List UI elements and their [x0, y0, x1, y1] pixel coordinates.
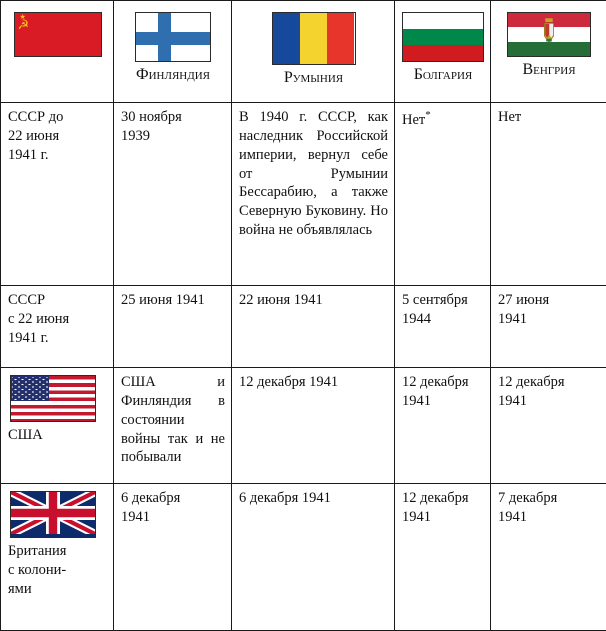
romania-header-content: Румыния	[239, 6, 388, 98]
bulgaria-flag	[402, 12, 484, 62]
header-label-hungary: Венгрия	[522, 60, 575, 81]
cell-ussr-after-bulgaria: 5 сентября 1944	[395, 286, 491, 368]
britain-header-content: Британия с колони- ями	[8, 489, 107, 599]
row-header-ussr-before: СССР до 22 июня 1941 г.	[1, 103, 114, 286]
cell-usa-finland: США и Финляндия в состоянии войны так и …	[114, 368, 232, 484]
cell-value: 12 декабря 1941	[239, 373, 388, 392]
header-cell-finland: Финляндия	[114, 1, 232, 103]
cell-value: 25 июня 1941	[121, 291, 225, 310]
cell-ussr-before-finland: 30 ноября 1939	[114, 103, 232, 286]
cell-ussr-after-finland: 25 июня 1941	[114, 286, 232, 368]
cell-value: 30 ноября 1939	[121, 108, 225, 146]
cell-ussr-after-hungary: 27 июня 1941	[491, 286, 606, 368]
table-header-row: ★ ☭ Финляндия Румыния	[1, 1, 606, 103]
hungary-flag	[507, 12, 591, 57]
finland-header-content: Финляндия	[121, 6, 225, 98]
cell-usa-hungary: 12 декабря 1941	[491, 368, 606, 484]
hungary-coat-of-arms-icon	[543, 16, 556, 54]
header-cell-bulgaria: Болгария	[395, 1, 491, 103]
cell-ussr-before-hungary: Нет	[491, 103, 606, 286]
bulgaria-header-content: Болгария	[402, 6, 484, 98]
ussr-hammer-sickle-icon: ☭	[18, 18, 30, 31]
cell-ussr-before-romania: В 1940 г. СССР, как наследник Российской…	[232, 103, 395, 286]
row-header-label: США	[8, 426, 43, 445]
cell-value: 5 сентября 1944	[402, 291, 484, 329]
header-label-finland: Финляндия	[136, 65, 210, 86]
cell-ussr-after-romania: 22 июня 1941	[232, 286, 395, 368]
row-header-usa: США	[1, 368, 114, 484]
table-row: СССР до 22 июня 1941 г. 30 ноября 1939 В…	[1, 103, 606, 286]
row-header-label: СССР до 22 июня 1941 г.	[8, 108, 107, 165]
cell-value: 7 декабря 1941	[498, 489, 600, 527]
table-row: Британия с колони- ями 6 декабря 1941 6 …	[1, 484, 606, 631]
cell-value: 12 декабря 1941	[402, 373, 484, 411]
cell-usa-romania: 12 декабря 1941	[232, 368, 395, 484]
declarations-of-war-table: ★ ☭ Финляндия Румыния	[0, 0, 606, 631]
hungary-header-content: Венгрия	[498, 6, 600, 98]
ussr-flag: ★ ☭	[14, 12, 102, 57]
cell-usa-bulgaria: 12 декабря 1941	[395, 368, 491, 484]
romania-flag	[272, 12, 356, 65]
footnote-asterisk: *	[425, 109, 431, 121]
cell-britain-hungary: 7 декабря 1941	[491, 484, 606, 631]
cell-value: 6 декабря 1941	[239, 489, 388, 508]
cell-value: 12 декабря 1941	[498, 373, 600, 411]
cell-value: Нет*	[402, 108, 484, 130]
ussr-header-content: ★ ☭	[8, 6, 107, 98]
usa-flag	[10, 375, 96, 422]
row-header-label: Британия с колони- ями	[8, 542, 66, 599]
cell-value: 6 декабря 1941	[121, 489, 225, 527]
cell-britain-finland: 6 декабря 1941	[114, 484, 232, 631]
header-label-romania: Румыния	[284, 68, 343, 89]
cell-value: Нет	[498, 108, 600, 127]
union-jack-icon	[11, 492, 95, 534]
header-label-bulgaria: Болгария	[414, 65, 473, 86]
table-row: США США и Финляндия в состоянии войны та…	[1, 368, 606, 484]
table-row: СССР с 22 июня 1941 г. 25 июня 1941 22 и…	[1, 286, 606, 368]
header-cell-hungary: Венгрия	[491, 1, 606, 103]
finland-flag	[135, 12, 211, 62]
cell-value: 22 июня 1941	[239, 291, 388, 310]
usa-header-content: США	[8, 373, 107, 445]
cell-value: 12 декабря 1941	[402, 489, 484, 527]
cell-britain-bulgaria: 12 декабря 1941	[395, 484, 491, 631]
row-header-label: СССР с 22 июня 1941 г.	[8, 291, 107, 348]
cell-britain-romania: 6 декабря 1941	[232, 484, 395, 631]
header-cell-ussr: ★ ☭	[1, 1, 114, 103]
header-cell-romania: Румыния	[232, 1, 395, 103]
cell-value: В 1940 г. СССР, как наследник Российской…	[239, 108, 388, 240]
cell-value: США и Финляндия в состоянии войны так и …	[121, 373, 225, 467]
row-header-ussr-after: СССР с 22 июня 1941 г.	[1, 286, 114, 368]
cell-value: 27 июня 1941	[498, 291, 600, 329]
britain-flag	[10, 491, 96, 538]
cell-ussr-before-bulgaria: Нет*	[395, 103, 491, 286]
row-header-britain: Британия с колони- ями	[1, 484, 114, 631]
